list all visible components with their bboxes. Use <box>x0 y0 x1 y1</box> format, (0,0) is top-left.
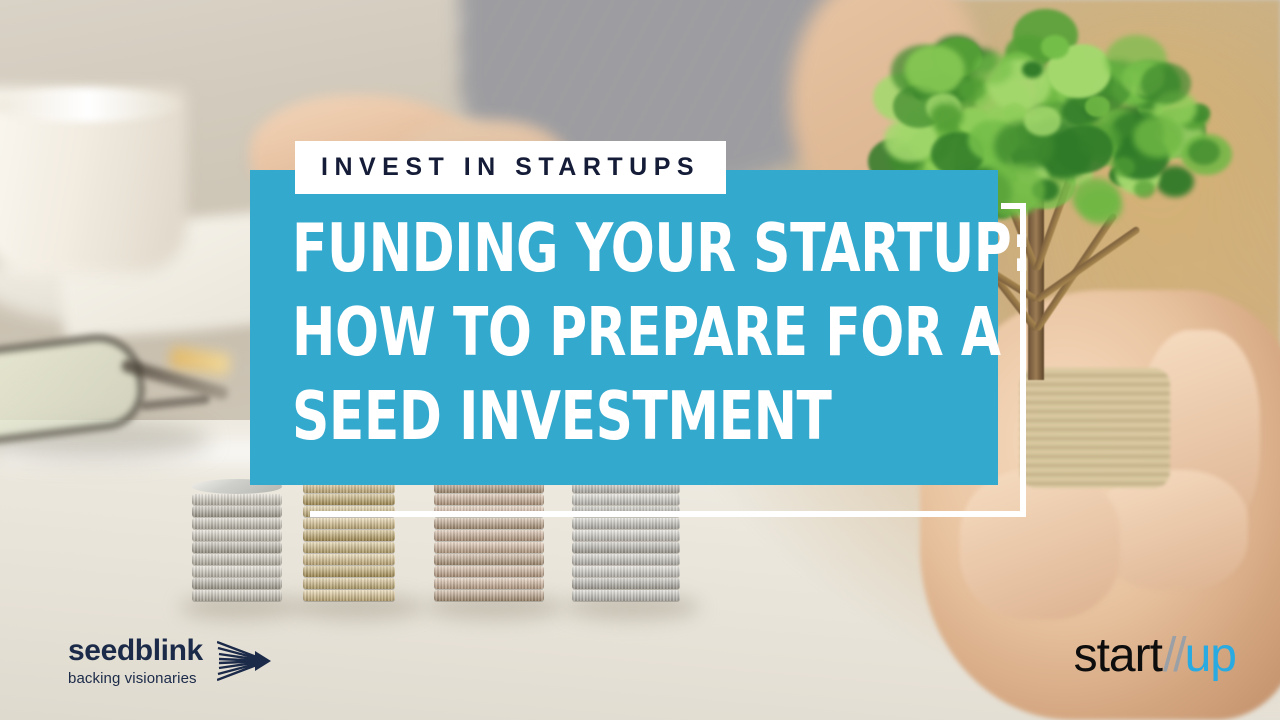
seedblink-name: seedblink <box>68 636 203 666</box>
coin <box>192 518 282 529</box>
finger-2 <box>1098 470 1248 590</box>
coin <box>572 566 680 577</box>
coin <box>572 494 680 505</box>
startup-logo-up: up <box>1185 632 1236 680</box>
tree-foliage <box>1133 116 1184 158</box>
seedblink-logo: seedblink backing visionaries <box>68 636 273 686</box>
coin <box>572 518 680 529</box>
seedblink-wordmark: seedblink backing visionaries <box>68 636 203 686</box>
coin <box>192 554 282 565</box>
coin <box>303 494 395 505</box>
coin <box>303 542 395 553</box>
tree-foliage <box>1003 103 1027 123</box>
coin <box>434 542 544 553</box>
tree-foliage <box>1022 61 1043 78</box>
eyebrow-text: INVEST IN STARTUPS <box>321 155 700 180</box>
coin-stack-1 <box>192 479 282 602</box>
coin <box>192 494 282 505</box>
startup-logo: start // up <box>1074 632 1236 680</box>
tree-foliage <box>1041 35 1070 59</box>
coin <box>434 494 544 505</box>
promo-banner: INVEST IN STARTUPS FUNDING YOUR STARTUP:… <box>0 0 1280 720</box>
coin <box>303 566 395 577</box>
coin <box>192 542 282 553</box>
headline: FUNDING YOUR STARTUP: HOW TO PREPARE FOR… <box>292 206 992 458</box>
coin <box>434 590 544 601</box>
coin <box>192 506 282 517</box>
coin <box>572 530 680 541</box>
coin <box>192 530 282 541</box>
coin <box>303 578 395 589</box>
coin <box>434 518 544 529</box>
tree-foliage <box>1141 63 1191 104</box>
tree-foliage <box>906 45 966 94</box>
startup-logo-start: start <box>1074 632 1162 680</box>
frame-bottom-extension <box>310 511 1026 517</box>
coin <box>434 578 544 589</box>
headline-line-2: HOW TO PREPARE FOR A <box>292 290 894 374</box>
coin <box>572 590 680 601</box>
coin <box>303 554 395 565</box>
tree-foliage <box>958 79 985 102</box>
coin <box>572 578 680 589</box>
coin <box>303 518 395 529</box>
coin <box>434 530 544 541</box>
tree-foliage <box>930 103 963 130</box>
tree-foliage <box>1085 96 1110 116</box>
coin <box>303 590 395 601</box>
seedblink-tagline: backing visionaries <box>68 671 203 686</box>
headline-line-3: SEED INVESTMENT <box>292 374 894 458</box>
tree-foliage <box>1072 178 1120 217</box>
coin <box>572 554 680 565</box>
coin <box>434 566 544 577</box>
coin <box>572 542 680 553</box>
eyebrow-badge: INVEST IN STARTUPS <box>295 141 726 194</box>
tree-foliage <box>1134 180 1156 198</box>
startup-logo-slashes: // <box>1163 632 1184 680</box>
coin-pile-in-hand <box>1020 368 1170 488</box>
tree-foliage <box>974 53 1013 85</box>
coin <box>192 566 282 577</box>
coin <box>192 578 282 589</box>
thumb <box>960 470 1120 620</box>
coin <box>192 590 282 601</box>
coin <box>434 554 544 565</box>
coin <box>303 530 395 541</box>
headline-line-1: FUNDING YOUR STARTUP: <box>292 206 894 290</box>
fan-arrow-icon <box>217 637 273 685</box>
